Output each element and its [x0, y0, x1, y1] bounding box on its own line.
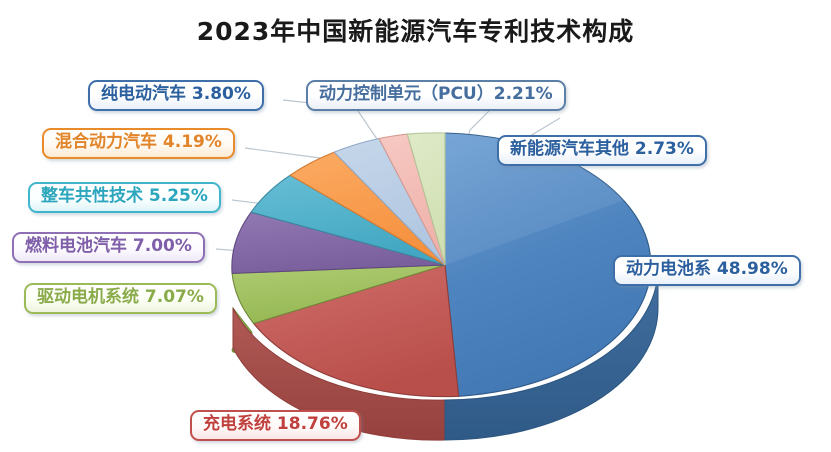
label-hybrid[interactable]: 混合动力汽车 4.19%: [42, 128, 235, 159]
label-fuelcell[interactable]: 燃料电池汽车 7.00%: [12, 232, 205, 263]
label-common[interactable]: 整车共性技术 5.25%: [28, 182, 221, 213]
label-pureev[interactable]: 纯电动汽车 3.80%: [88, 80, 264, 111]
label-motor[interactable]: 驱动电机系统 7.07%: [24, 283, 217, 314]
label-charging[interactable]: 充电系统 18.76%: [190, 410, 361, 441]
label-battery[interactable]: 动力电池系 48.98%: [613, 255, 801, 286]
chart-container: 2023年中国新能源汽车专利技术构成: [0, 0, 831, 452]
label-pcu[interactable]: 动力控制单元（PCU）2.21%: [306, 80, 566, 111]
pie-chart-graphic: [0, 0, 831, 452]
label-other[interactable]: 新能源汽车其他 2.73%: [497, 135, 707, 166]
